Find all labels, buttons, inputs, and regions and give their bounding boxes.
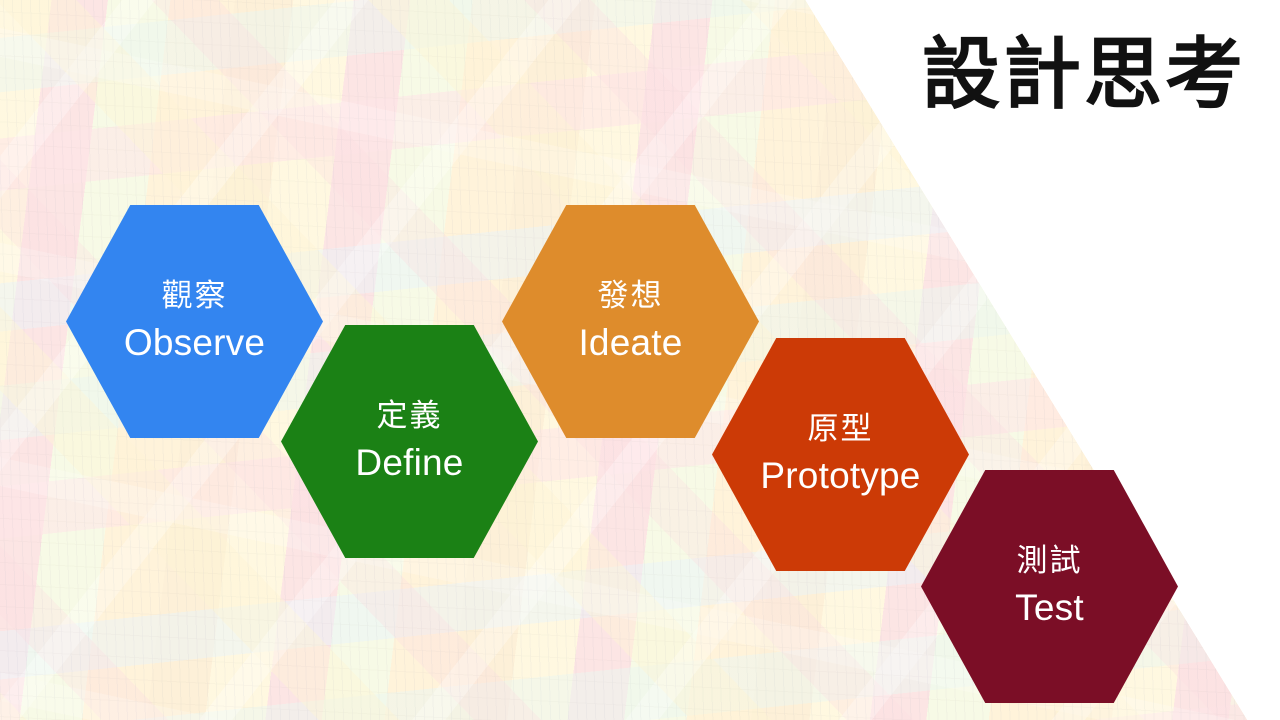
stage-label-en-test: Test: [1015, 587, 1084, 628]
stage-label-en-ideate: Ideate: [578, 322, 682, 363]
stage-label-zh-test: 測試: [1017, 544, 1083, 579]
page-title: 設計思考: [922, 36, 1246, 114]
stage-label-zh-prototype: 原型: [808, 412, 874, 447]
slide-canvas: 設計思考 觀察 Observe 定義 Define 發想 Ideate 原型 P…: [0, 0, 1280, 720]
stage-label-zh-observe: 觀察: [162, 279, 228, 314]
stage-label-zh-define: 定義: [377, 399, 443, 434]
stage-label-zh-ideate: 發想: [598, 279, 664, 314]
stage-label-en-observe: Observe: [124, 322, 265, 363]
stage-label-en-prototype: Prototype: [760, 455, 920, 496]
stage-label-en-define: Define: [355, 442, 463, 483]
